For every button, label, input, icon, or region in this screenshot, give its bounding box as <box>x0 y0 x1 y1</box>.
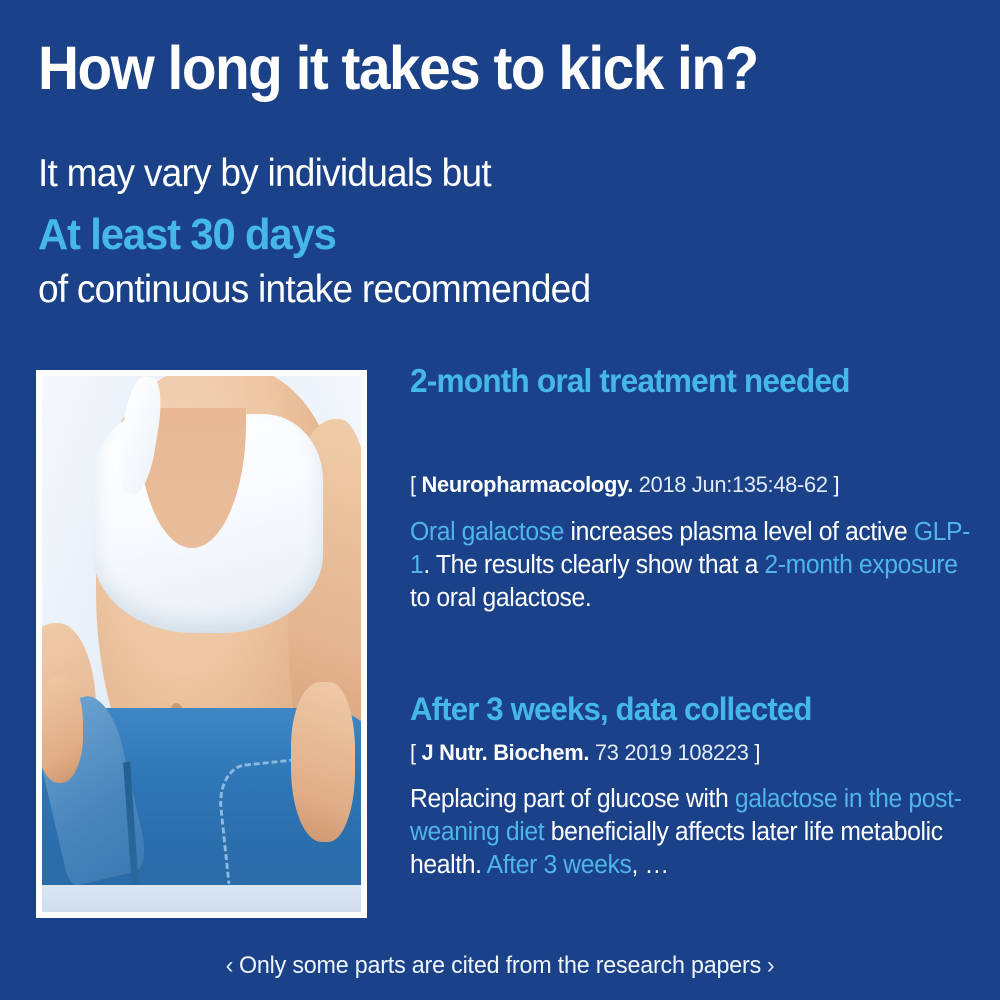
block-1-body: Oral galactose increases plasma level of… <box>410 516 971 615</box>
chevron-right-icon: › <box>761 952 780 979</box>
citation-journal: J Nutr. Biochem. <box>422 740 590 765</box>
footer-note: ‹Only some parts are cited from the rese… <box>15 952 985 980</box>
block-1-citation: [ Neuropharmacology. 2018 Jun:135:48-62 … <box>410 470 971 499</box>
weight-loss-photo <box>42 376 361 912</box>
photo-frame <box>36 370 367 918</box>
photo-hand-left <box>42 676 83 783</box>
body-phrase: . The results clearly show that a <box>423 551 764 579</box>
photo-floor <box>42 885 361 912</box>
body-phrase: increases plasma level of active <box>564 518 914 546</box>
subtitle-line-1: It may vary by individuals but <box>38 152 491 197</box>
citation-close-bracket: ] <box>833 472 839 497</box>
body-phrase: to oral galactose. <box>410 584 591 612</box>
highlighted-phrase: 2-month exposure <box>764 551 957 579</box>
citation-journal: Neuropharmacology. <box>422 472 633 497</box>
body-phrase: Replacing part of glucose with <box>410 785 735 813</box>
citation-close-bracket: ] <box>754 740 760 765</box>
footer-text: Only some parts are cited from the resea… <box>239 952 761 979</box>
photo-hand-right <box>291 682 355 843</box>
block-2-citation: [ J Nutr. Biochem. 73 2019 108223 ] <box>410 738 971 767</box>
highlighted-phrase: After 3 weeks <box>487 851 632 879</box>
block-2-heading: After 3 weeks, data collected <box>410 690 965 728</box>
subtitle-highlight: At least 30 days <box>38 210 336 260</box>
infographic-page: How long it takes to kick in? It may var… <box>0 0 1000 1000</box>
highlighted-phrase: Oral galactose <box>410 518 564 546</box>
body-phrase: , … <box>631 851 668 879</box>
citation-open-bracket: [ <box>410 740 416 765</box>
subtitle-line-2: of continuous intake recommended <box>38 268 590 313</box>
block-1-heading: 2-month oral treatment needed <box>410 362 965 401</box>
citation-reference: 73 2019 108223 <box>595 740 749 765</box>
citation-reference: 2018 Jun:135:48-62 <box>639 472 828 497</box>
page-title: How long it takes to kick in? <box>38 36 758 100</box>
citation-open-bracket: [ <box>410 472 416 497</box>
block-2-body: Replacing part of glucose with galactose… <box>410 783 971 882</box>
chevron-left-icon: ‹ <box>220 952 239 979</box>
